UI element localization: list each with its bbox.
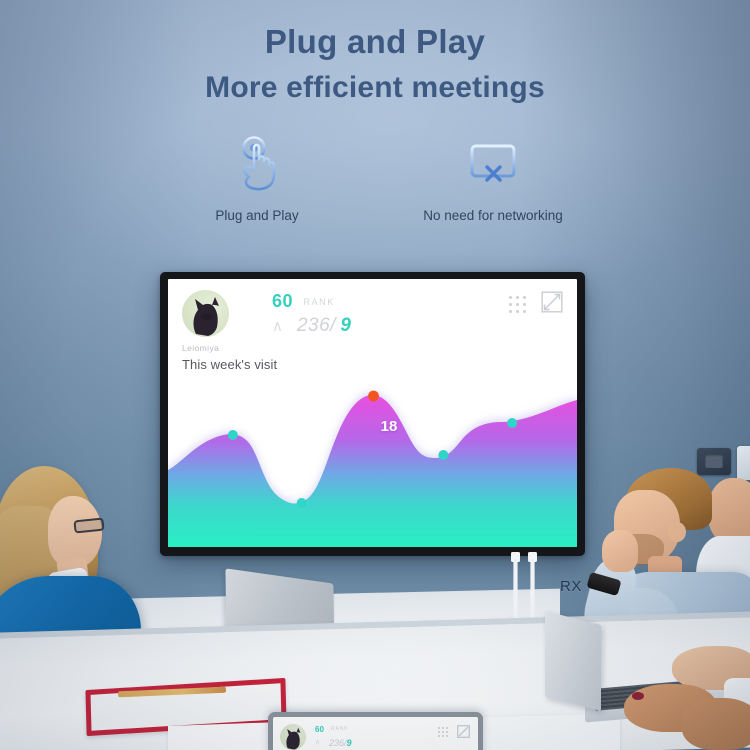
rank-value: 60 <box>272 291 293 311</box>
chart-peak-point <box>368 391 379 402</box>
cat-avatar-icon[interactable] <box>182 290 229 337</box>
tv-screen-content[interactable]: Leiomiya This week's visit 60 RANK ∧ 236… <box>168 279 577 547</box>
feature-caption: Plug and Play <box>182 208 332 223</box>
person-foreground-hands <box>596 676 750 750</box>
caret-up-icon: ∧ <box>272 319 283 334</box>
tablet-score-main: 236/ <box>329 738 347 748</box>
cat-avatar-icon[interactable] <box>280 724 306 750</box>
rank-label: RANK <box>303 297 334 307</box>
score-main: 236/ <box>297 315 336 336</box>
screen-header-icons <box>509 291 563 318</box>
headline-line-2: More efficient meetings <box>0 70 750 107</box>
chart-point <box>228 430 238 440</box>
tablet-rank-label: RANK <box>331 726 349 732</box>
chart-point <box>438 450 448 460</box>
laptop-right-lid <box>545 611 601 711</box>
foreground-hand-clasped <box>682 698 750 750</box>
feature-row: Plug and Play No need for networking <box>0 133 750 223</box>
tablet-score-highlight: 9 <box>347 738 352 748</box>
feature-plug-and-play: Plug and Play <box>182 133 332 223</box>
touch-tap-icon <box>182 133 332 195</box>
caret-up-icon: ∧ <box>315 738 320 746</box>
score-row: ∧ 236/ 9 <box>272 315 351 337</box>
headline-line-1: Plug and Play <box>0 22 750 62</box>
no-network-screen-icon <box>418 133 568 195</box>
rx-label: RX <box>560 578 582 595</box>
chart-point <box>507 418 517 428</box>
rank-row: 60 RANK <box>272 291 335 312</box>
painted-nail <box>632 692 644 700</box>
screen-subtitle: This week's visit <box>182 357 277 372</box>
expand-fullscreen-icon[interactable] <box>457 725 470 743</box>
headline-block: Plug and Play More efficient meetings <box>0 22 750 107</box>
man-ear <box>668 522 686 542</box>
expand-fullscreen-icon[interactable] <box>541 291 563 318</box>
tablet-mirrored-screen[interactable]: 60 RANK ∧ 236/9 <box>268 712 483 750</box>
tablet-screen-content[interactable]: 60 RANK ∧ 236/9 <box>273 717 478 750</box>
tablet-score: 236/9 <box>329 738 352 748</box>
score-highlight: 9 <box>340 315 351 336</box>
man-hand <box>602 530 638 572</box>
feature-no-networking: No need for networking <box>418 133 568 223</box>
wall-mounted-tv[interactable]: Leiomiya This week's visit 60 RANK ∧ 236… <box>160 272 585 556</box>
chart-peak-label: 18 <box>381 418 398 435</box>
product-promo-image: Plug and Play More efficient meetings <box>0 0 750 750</box>
grid-dots-icon[interactable] <box>509 296 526 313</box>
grid-dots-icon[interactable] <box>438 727 448 737</box>
chart-point <box>297 498 307 508</box>
weekly-visit-area-chart: 18 <box>168 372 577 547</box>
screen-username: Leiomiya <box>182 343 219 353</box>
tablet-rank-value: 60 <box>315 725 324 734</box>
screen-header: Leiomiya This week's visit 60 RANK ∧ 236… <box>168 279 577 383</box>
feature-caption: No need for networking <box>418 208 568 223</box>
